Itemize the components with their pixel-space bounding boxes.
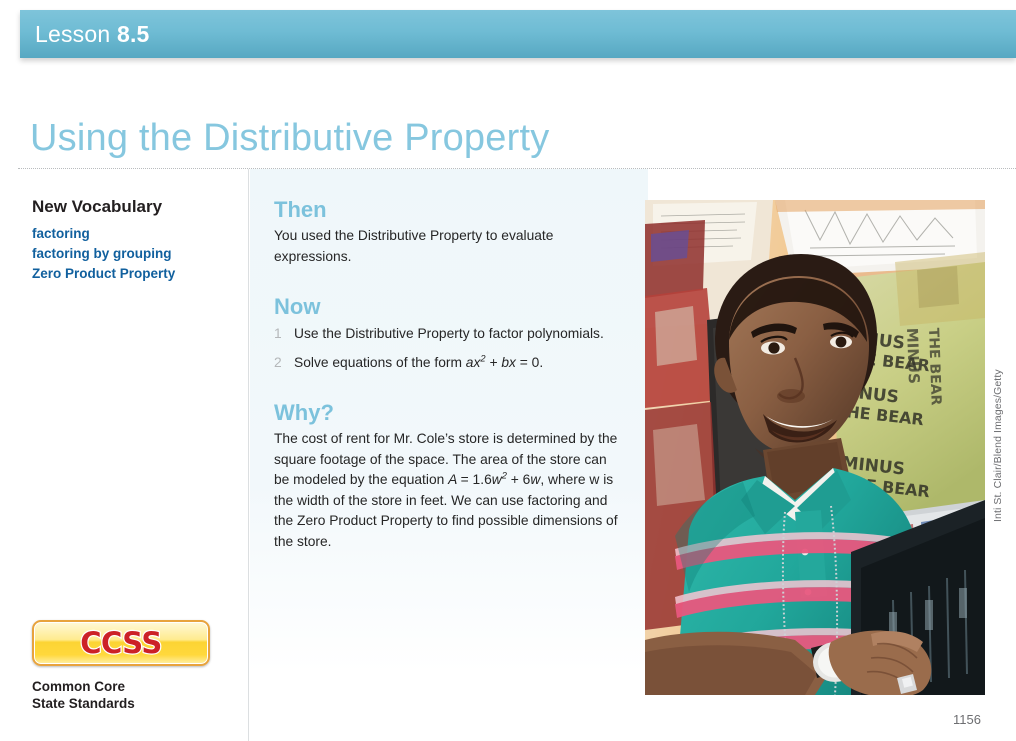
now-objective-number: 1	[274, 324, 282, 345]
svg-text:MINUS: MINUS	[903, 328, 923, 385]
now-objective-text-before: Solve equations of the form	[294, 355, 466, 370]
ccss-caption-line-1: Common Core	[32, 678, 210, 695]
now-heading: Now	[274, 294, 619, 320]
why-heading: Why?	[274, 400, 619, 426]
vocabulary-term[interactable]: Zero Product Property	[32, 264, 175, 284]
photo-credit: Inti St. Clair/Blend Images/Getty	[992, 369, 1004, 522]
ccss-caption-line-2: State Standards	[32, 695, 210, 712]
then-heading: Then	[274, 197, 619, 223]
ccss-block: CCSS Common Core State Standards	[32, 620, 210, 712]
lesson-word: Lesson	[35, 21, 110, 47]
now-objective-equation: ax2 + bx = 0	[466, 355, 540, 370]
page-number: 1156	[953, 712, 981, 727]
now-objective-item: 2 Solve equations of the form ax2 + bx =…	[274, 353, 619, 374]
now-objective-item: 1 Use the Distributive Property to facto…	[274, 324, 619, 345]
now-objective-text: Use the Distributive Property to factor …	[294, 326, 604, 341]
vocabulary-list: factoring factoring by grouping Zero Pro…	[32, 224, 175, 284]
lesson-label: Lesson 8.5	[20, 21, 150, 48]
ccss-caption: Common Core State Standards	[32, 678, 210, 712]
page-title: Using the Distributive Property	[30, 117, 549, 160]
vocabulary-term[interactable]: factoring by grouping	[32, 244, 175, 264]
vocabulary-term[interactable]: factoring	[32, 224, 175, 244]
ccss-badge: CCSS	[32, 620, 210, 666]
why-equation: A = 1.6w2 + 6w	[448, 472, 540, 487]
now-objectives-list: 1 Use the Distributive Property to facto…	[274, 324, 619, 373]
sidebar: New Vocabulary factoring factoring by gr…	[0, 169, 249, 741]
lesson-header-bar: Lesson 8.5	[20, 10, 1016, 58]
lesson-overview-panel: Then You used the Distributive Property …	[250, 169, 648, 741]
lesson-number: 8.5	[117, 21, 150, 47]
now-objective-number: 2	[274, 353, 282, 374]
now-objective-text-after: .	[539, 355, 543, 370]
new-vocabulary-heading: New Vocabulary	[32, 197, 162, 217]
then-text: You used the Distributive Property to ev…	[274, 226, 619, 267]
lesson-photo: MINUS THE BEAR MINUS THE BEAR MINUS THE …	[645, 200, 985, 695]
ccss-badge-label: CCSS	[80, 629, 162, 658]
why-paragraph: The cost of rent for Mr. Cole’s store is…	[274, 429, 619, 552]
svg-text:THE BEAR: THE BEAR	[925, 328, 944, 406]
